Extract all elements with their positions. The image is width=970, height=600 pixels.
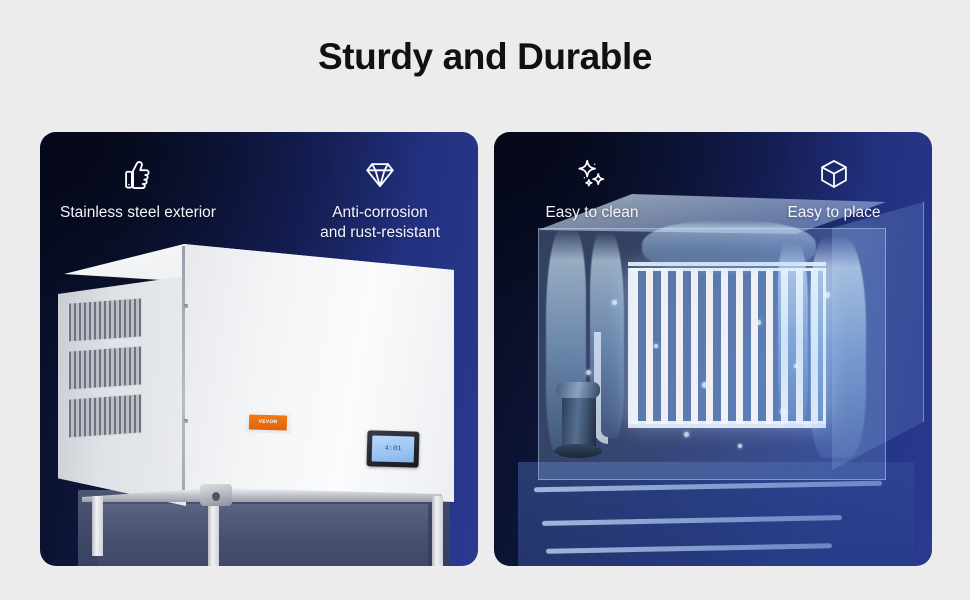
- feature-label: Stainless steel exterior: [45, 203, 231, 223]
- feature-label: Easy to clean: [499, 203, 685, 223]
- cabinet-screw: [184, 304, 188, 308]
- water-droplet: [684, 432, 689, 437]
- water-droplet: [824, 292, 830, 298]
- water-droplet: [702, 382, 708, 388]
- feature-easy-to-clean: Easy to clean: [499, 154, 685, 223]
- feature-label: Easy to place: [741, 203, 927, 223]
- water-droplet: [654, 344, 658, 348]
- louver-block: [68, 345, 142, 390]
- feature-label: Anti-corrosion and rust-resistant: [287, 203, 473, 244]
- feature-stainless-steel-exterior: Stainless steel exterior: [45, 154, 231, 244]
- water-droplet: [756, 320, 761, 325]
- louver-block: [68, 393, 142, 438]
- water-stream: [778, 242, 808, 428]
- ventilation-louvers: [68, 297, 142, 454]
- vevor-badge-label: VEVOR: [249, 414, 287, 430]
- cube-box-icon: [741, 154, 927, 194]
- pump-foot: [554, 444, 602, 458]
- panel-easy-clean-place: Easy to clean Easy to place: [494, 132, 932, 566]
- feature-anti-corrosion: Anti-corrosion and rust-resistant: [287, 154, 473, 244]
- lcd-display: 4:01: [372, 435, 415, 462]
- left-panel-features: Stainless steel exterior Anti-corrosion …: [40, 154, 478, 244]
- leg-bracket: [200, 484, 232, 506]
- vevor-brand-badge: VEVOR: [245, 410, 292, 433]
- water-splash: [642, 220, 816, 274]
- feature-easy-to-place: Easy to place: [741, 154, 927, 223]
- louver-block: [68, 297, 142, 342]
- water-droplet: [738, 444, 742, 448]
- control-panel[interactable]: 4:01: [367, 430, 420, 467]
- cabinet-seam: [182, 246, 185, 501]
- machine-leg: [92, 496, 103, 556]
- thumbs-up-icon: [45, 154, 231, 194]
- machine-leg: [432, 496, 443, 566]
- water-pump: [562, 390, 596, 452]
- water-droplet: [612, 300, 617, 305]
- water-stream: [810, 236, 866, 458]
- machine-leg: [208, 496, 219, 566]
- pump-cap: [556, 382, 600, 398]
- water-droplet: [794, 364, 798, 368]
- sparkles-icon: [499, 154, 685, 194]
- water-droplet: [780, 408, 787, 415]
- panel-stainless-steel-exterior: VEVOR 4:01: [40, 132, 478, 566]
- page-title: Sturdy and Durable: [0, 36, 970, 78]
- water-droplet: [586, 370, 591, 375]
- right-panel-features: Easy to clean Easy to place: [494, 154, 932, 223]
- cabinet-screw: [184, 419, 188, 423]
- diamond-icon: [287, 154, 473, 194]
- machine-base-front: [98, 504, 428, 566]
- feature-panels-container: VEVOR 4:01: [40, 132, 932, 566]
